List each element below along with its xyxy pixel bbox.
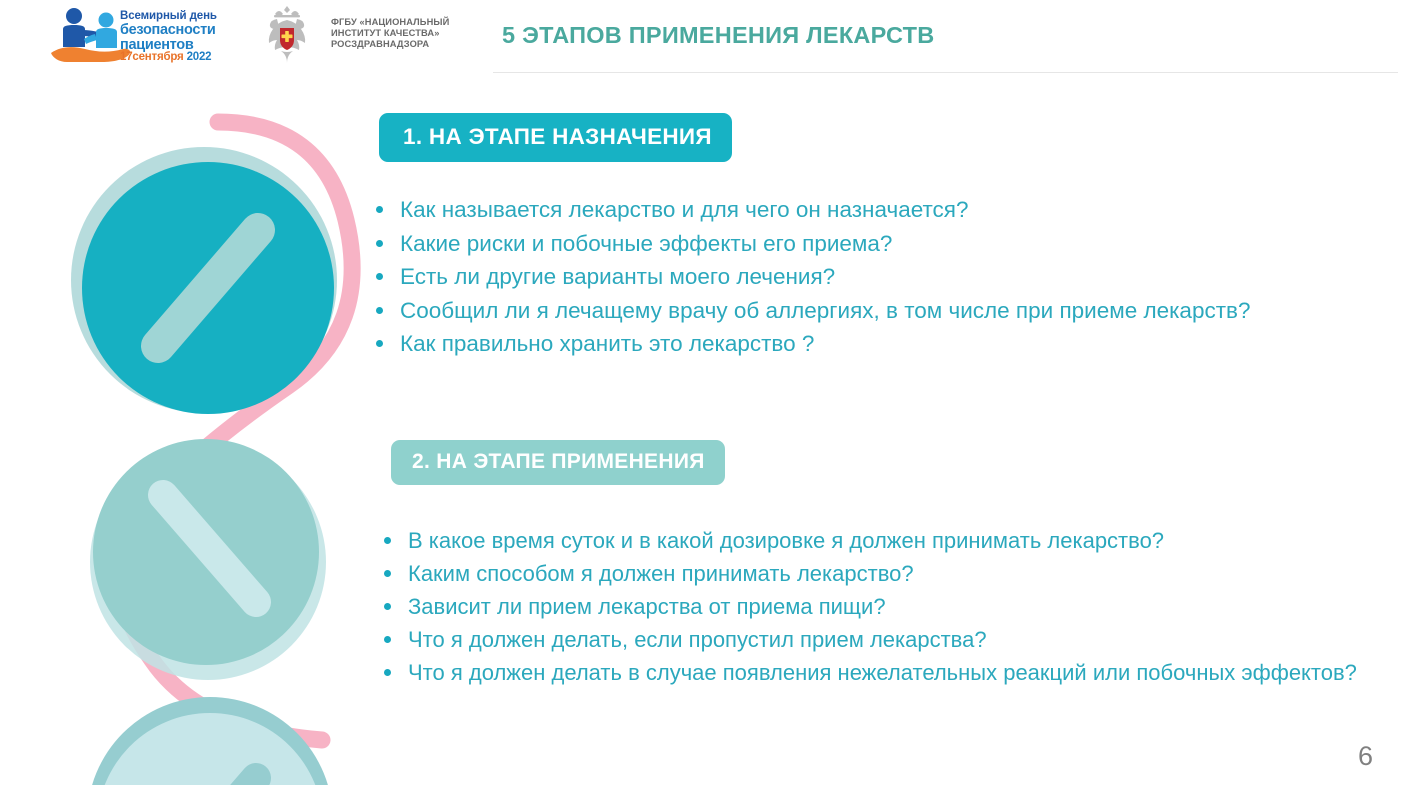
bullet-dot-icon <box>376 240 383 247</box>
bullet-dot-icon <box>384 537 391 544</box>
list-item-text: Как правильно хранить это лекарство ? <box>400 331 814 356</box>
section-2-bullet-list: В какое время суток и в какой дозировке … <box>376 524 1366 689</box>
list-item: Что я должен делать, если пропустил прие… <box>376 623 1366 656</box>
list-item-text: Что я должен делать в случае появления н… <box>408 660 1357 685</box>
list-item: Как называется лекарство и для чего он н… <box>368 193 1348 227</box>
list-item: Есть ли другие варианты моего лечения? <box>368 260 1348 294</box>
bullet-dot-icon <box>376 307 383 314</box>
bullet-dot-icon <box>384 669 391 676</box>
bullet-dot-icon <box>384 603 391 610</box>
list-item: Сообщил ли я лечащему врачу об аллергиях… <box>368 294 1348 328</box>
list-item-text: Какие риски и побочные эффекты его прием… <box>400 231 892 256</box>
list-item-text: Зависит ли прием лекарства от приема пищ… <box>408 594 886 619</box>
bullet-dot-icon <box>376 273 383 280</box>
list-item-text: Есть ли другие варианты моего лечения? <box>400 264 835 289</box>
list-item: Какие риски и побочные эффекты его прием… <box>368 227 1348 261</box>
section-1-bullet-list: Как называется лекарство и для чего он н… <box>368 193 1348 361</box>
list-item: Как правильно хранить это лекарство ? <box>368 327 1348 361</box>
list-item: Зависит ли прием лекарства от приема пищ… <box>376 590 1366 623</box>
list-item-text: Сообщил ли я лечащему врачу об аллергиях… <box>400 298 1251 323</box>
page-number: 6 <box>1358 741 1373 772</box>
bullet-dot-icon <box>384 570 391 577</box>
list-item: Каким способом я должен принимать лекарс… <box>376 557 1366 590</box>
list-item-text: Каким способом я должен принимать лекарс… <box>408 561 914 586</box>
slide: Всемирный день безопасности пациентов 17… <box>0 0 1408 785</box>
list-item: В какое время суток и в какой дозировке … <box>376 524 1366 557</box>
section-2-badge: 2. НА ЭТАПЕ ПРИМЕНЕНИЯ <box>391 440 725 485</box>
bullet-dot-icon <box>376 340 383 347</box>
list-item: Что я должен делать в случае появления н… <box>376 656 1366 689</box>
slide-content: 1. НА ЭТАПЕ НАЗНАЧЕНИЯ Как называется ле… <box>0 0 1408 785</box>
list-item-text: Что я должен делать, если пропустил прие… <box>408 627 987 652</box>
bullet-dot-icon <box>384 636 391 643</box>
section-1-badge: 1. НА ЭТАПЕ НАЗНАЧЕНИЯ <box>379 113 732 162</box>
bullet-dot-icon <box>376 206 383 213</box>
list-item-text: В какое время суток и в какой дозировке … <box>408 528 1164 553</box>
list-item-text: Как называется лекарство и для чего он н… <box>400 197 969 222</box>
